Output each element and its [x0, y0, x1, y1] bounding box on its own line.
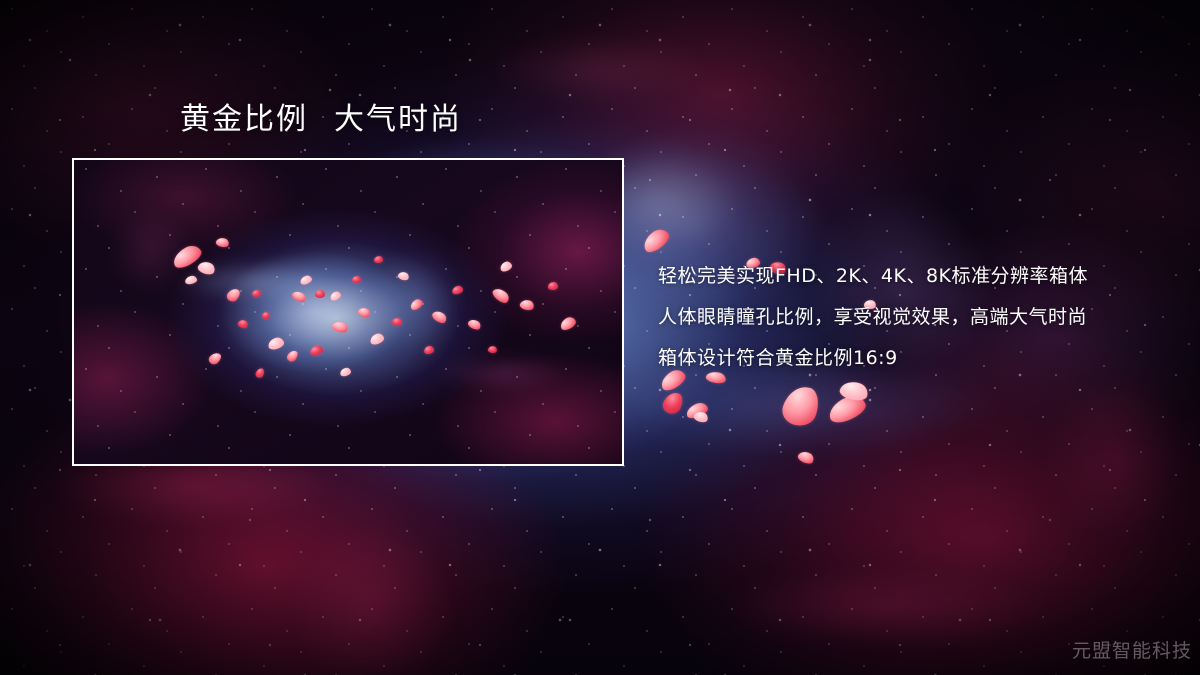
body-line-3: 箱体设计符合黄金比例16:9	[658, 338, 1178, 379]
petal	[660, 389, 686, 417]
petal	[796, 449, 815, 466]
presentation-slide: 黄金比例大气时尚 轻松完美实现FHD、2K、4K、8K标准分辨率箱体 人体眼睛瞳…	[0, 0, 1200, 675]
body-line-2: 人体眼睛瞳孔比例，享受视觉效果，高端大气时尚	[658, 297, 1178, 338]
watermark: 元盟智能科技	[1072, 636, 1192, 663]
petal	[825, 392, 868, 427]
petal	[693, 410, 709, 424]
petal	[779, 382, 824, 431]
petal	[684, 401, 709, 421]
title-part-one: 黄金比例	[180, 102, 308, 137]
petal	[640, 226, 673, 256]
petal	[838, 379, 870, 403]
body-line-1: 轻松完美实现FHD、2K、4K、8K标准分辨率箱体	[658, 256, 1178, 297]
framed-image-wisps	[74, 160, 622, 464]
body-text-block: 轻松完美实现FHD、2K、4K、8K标准分辨率箱体 人体眼睛瞳孔比例，享受视觉效…	[658, 256, 1178, 379]
framed-image-16-9	[72, 158, 624, 466]
title-part-two: 大气时尚	[334, 102, 462, 137]
page-title: 黄金比例大气时尚	[180, 101, 462, 139]
